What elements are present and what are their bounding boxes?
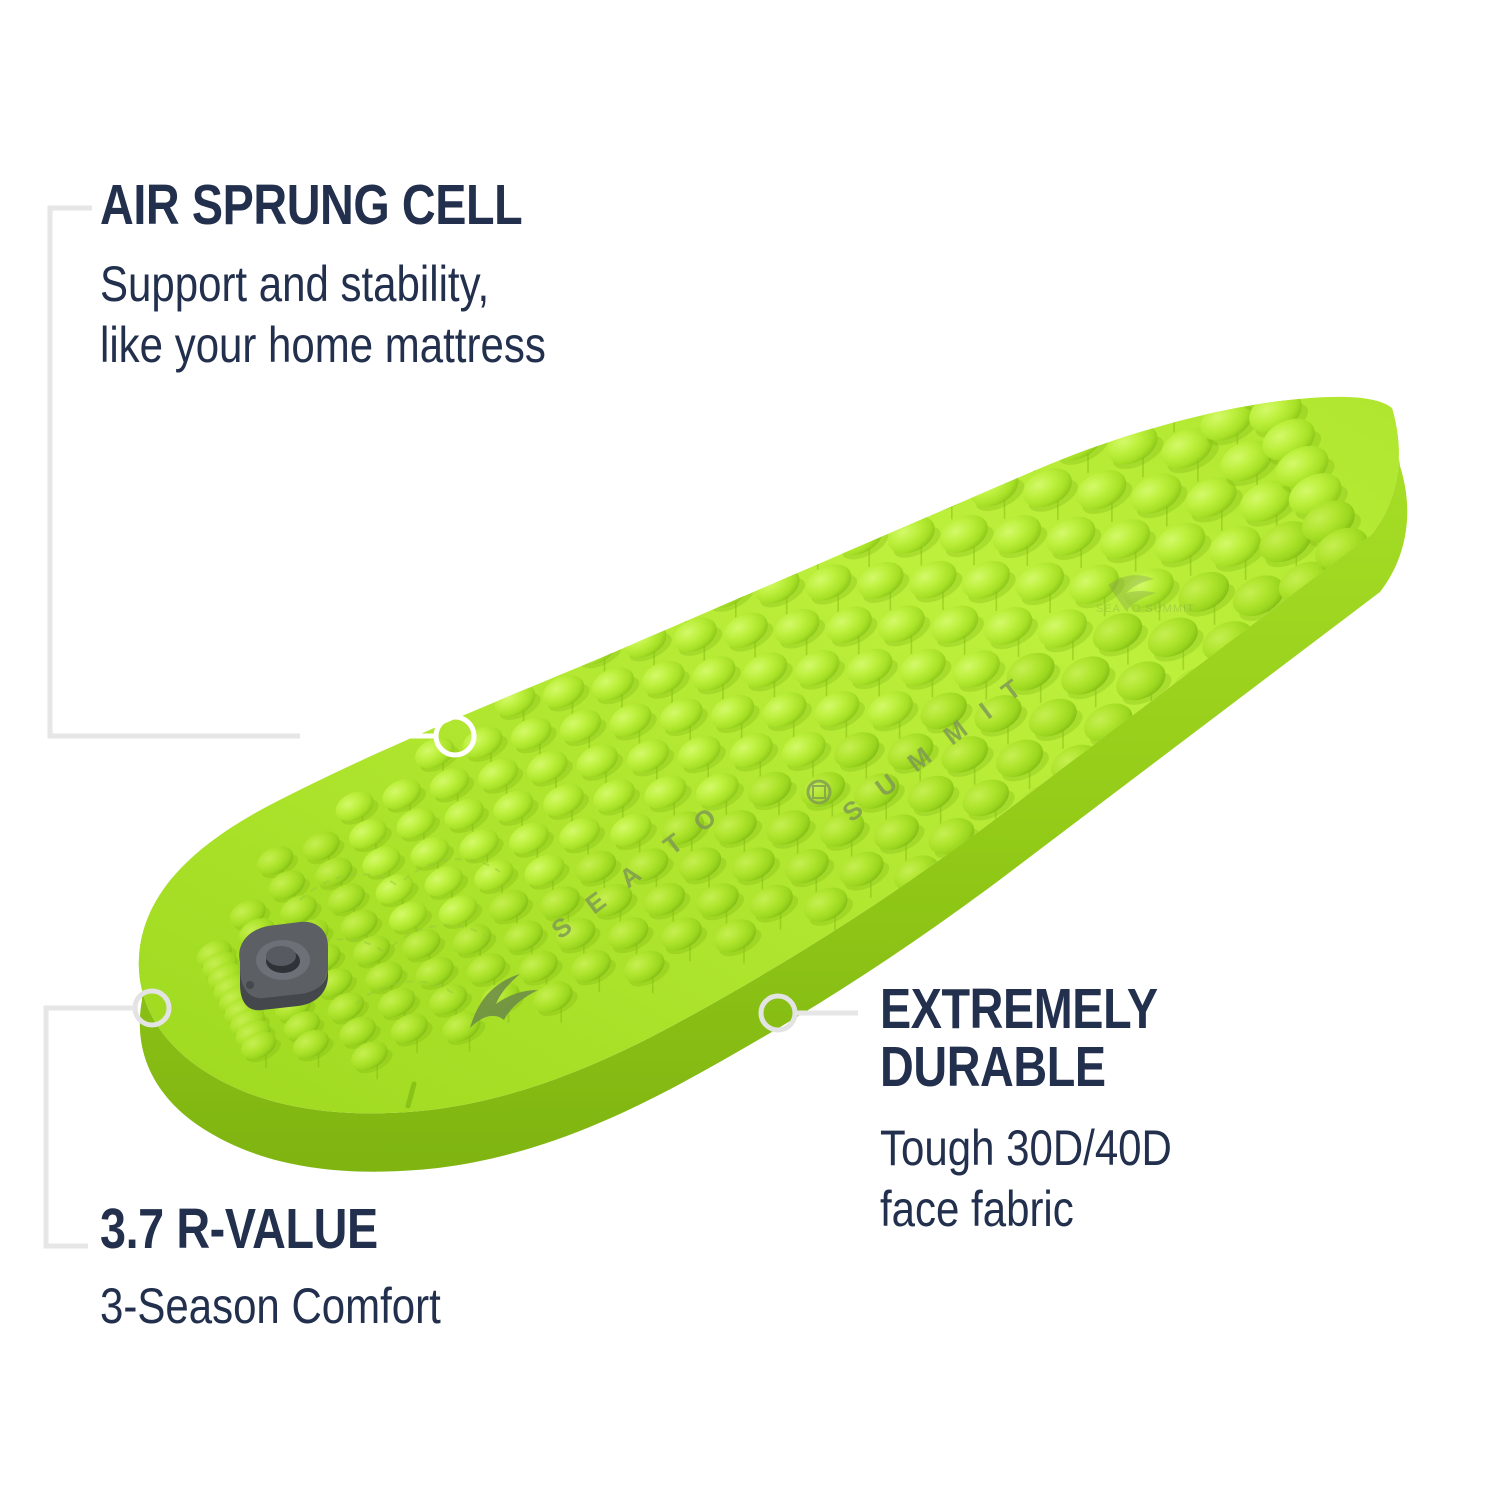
callout-air-sprung-cell: AIR SPRUNG CELL Support and stability, l… <box>100 176 631 376</box>
callout-r-value-title: 3.7 R-VALUE <box>100 1200 433 1258</box>
callout-air-sprung-cell-title: AIR SPRUNG CELL <box>100 176 535 234</box>
product-feature-infographic: {} S U M M I T S E <box>0 0 1500 1500</box>
callout-extremely-durable-body: Tough 30D/40D face fabric <box>880 1118 1172 1240</box>
callout-extremely-durable-title: EXTREMELY DURABLE <box>880 980 1165 1096</box>
callout-air-sprung-cell-body: Support and stability, like your home ma… <box>100 254 546 376</box>
svg-text:SEA TO SUMMIT: SEA TO SUMMIT <box>1096 603 1195 615</box>
callout-r-value-body: 3-Season Comfort <box>100 1276 441 1337</box>
inflation-valve <box>239 922 328 1010</box>
callout-r-value: 3.7 R-VALUE 3-Season Comfort <box>100 1200 506 1337</box>
callout-extremely-durable: EXTREMELY DURABLE Tough 30D/40D face fab… <box>880 980 1227 1240</box>
